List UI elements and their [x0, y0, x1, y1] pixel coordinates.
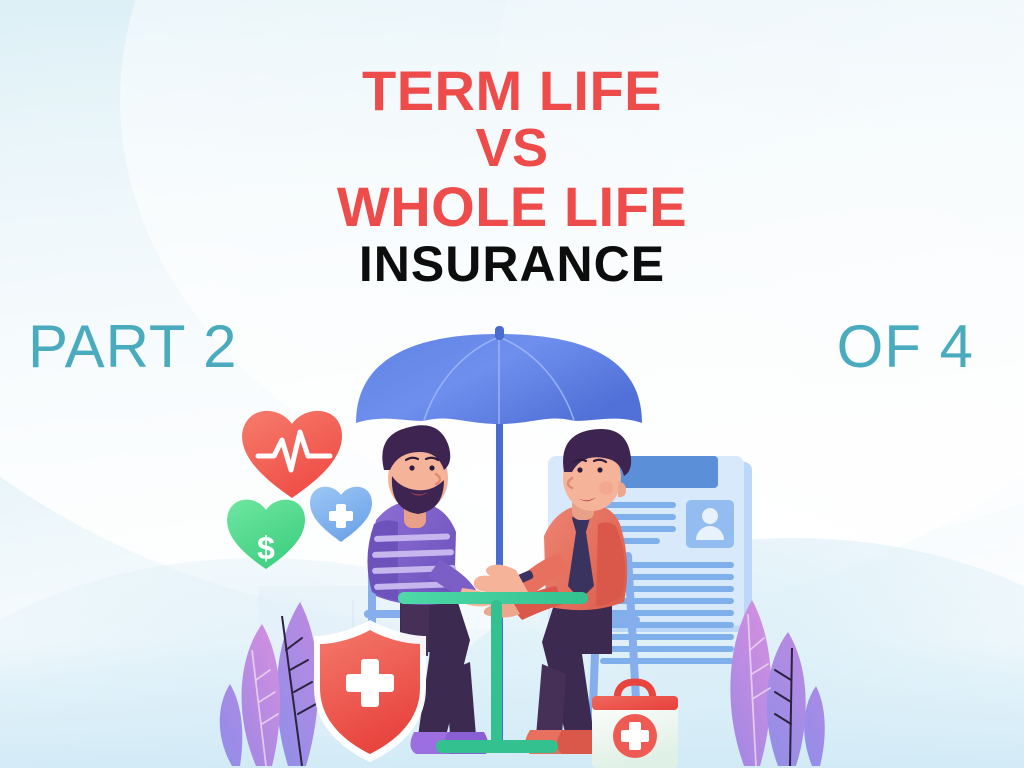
title-line-term-life: TERM LIFE [0, 62, 1024, 119]
poster-canvas: $ [0, 0, 1024, 768]
leaf-right-small [804, 686, 825, 766]
heart-pulse-icon [242, 411, 342, 498]
purple-leaf-plant-right [730, 600, 824, 766]
title-line-insurance: INSURANCE [0, 239, 1024, 290]
title-line-whole-life: WHOLE LIFE [0, 178, 1024, 235]
umbrella-finial [495, 326, 504, 340]
table-base [436, 740, 558, 753]
document-avatar-icon [686, 500, 734, 548]
table-pedestal [491, 600, 502, 748]
title-line-vs: VS [0, 121, 1024, 176]
dollar-glyph: $ [257, 530, 275, 566]
heart-dollar-icon: $ [227, 500, 305, 569]
total-parts-label: OF 4 [837, 312, 974, 381]
kit-top-band [592, 696, 678, 710]
part-number-label: PART 2 [28, 312, 237, 381]
shield-cross-horizontal [346, 674, 394, 692]
leaf-left-small [220, 684, 243, 766]
shield-cross-icon [314, 620, 426, 762]
page-title: TERM LIFE VS WHOLE LIFE INSURANCE [0, 62, 1024, 290]
heart-cross-icon [310, 487, 372, 542]
